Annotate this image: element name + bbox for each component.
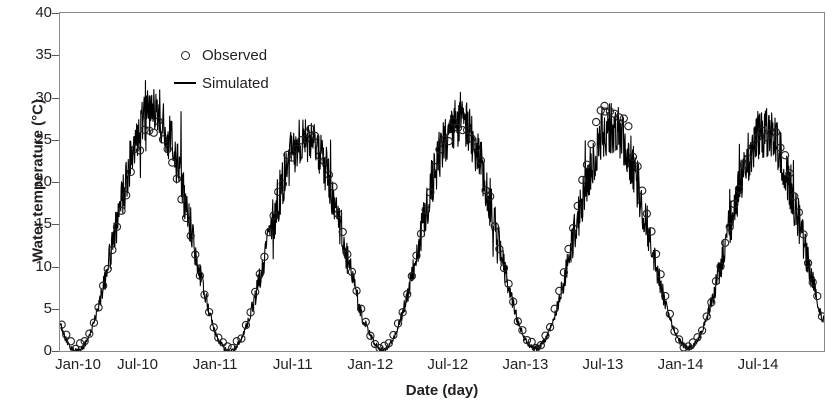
chart-legend: Observed Simulated: [170, 41, 340, 97]
x-axis-tick-label: Jan-14: [658, 356, 704, 373]
observed-point: [588, 141, 595, 148]
y-axis-tick-label: 15: [8, 215, 52, 232]
observed-point: [77, 340, 84, 347]
legend-label-simulated: Simulated: [202, 75, 269, 92]
y-axis-tick-mark: [52, 351, 59, 352]
y-axis-tick-labels: 0510152025303540: [0, 0, 52, 406]
y-axis-tick-label: 20: [8, 173, 52, 190]
x-axis-tick-label: Jan-11: [193, 356, 238, 373]
observed-point: [781, 152, 788, 159]
y-axis-tick-mark: [52, 140, 59, 141]
x-axis-tick-label: Jan-12: [347, 356, 393, 373]
plot-area: Observed Simulated: [59, 12, 825, 352]
observed-point: [348, 268, 355, 275]
y-axis-tick-label: 40: [8, 4, 52, 21]
y-axis-tick-mark: [52, 98, 59, 99]
x-axis-tick-label: Jan-10: [55, 356, 101, 373]
y-axis-tick-label: 25: [8, 131, 52, 148]
y-axis-tick-label: 30: [8, 89, 52, 106]
observed-point: [625, 123, 632, 130]
y-axis-tick-mark: [52, 309, 59, 310]
x-axis-title: Date (day): [59, 382, 825, 399]
y-axis-tick-mark: [52, 13, 59, 14]
y-axis-tick-label: 5: [8, 300, 52, 317]
observed-point: [666, 310, 673, 317]
x-axis-tick-label: Jul-13: [583, 356, 624, 373]
legend-item-simulated: Simulated: [170, 69, 340, 97]
x-axis-tick-label: Jul-10: [117, 356, 158, 373]
simulated-line: [60, 81, 824, 351]
x-axis-tick-label: Jan-13: [502, 356, 548, 373]
observed-point: [597, 107, 604, 114]
chart-figure: Water temperature (°C) 0510152025303540 …: [0, 0, 832, 406]
y-axis-tick-mark: [52, 55, 59, 56]
open-circle-icon: [170, 51, 200, 60]
observed-point: [150, 129, 157, 136]
x-axis-tick-label: Jul-12: [427, 356, 468, 373]
y-axis-tick-label: 0: [8, 342, 52, 359]
y-axis-tick-label: 10: [8, 258, 52, 275]
x-axis-tick-label: Jul-14: [738, 356, 779, 373]
legend-item-observed: Observed: [170, 41, 340, 69]
line-icon: [170, 82, 200, 84]
y-axis-tick-mark: [52, 182, 59, 183]
x-axis-tick-label: Jul-11: [273, 356, 313, 373]
y-axis-tick-mark: [52, 267, 59, 268]
y-axis-tick-label: 35: [8, 46, 52, 63]
observed-point: [814, 292, 821, 299]
observed-point: [593, 118, 600, 125]
legend-label-observed: Observed: [202, 47, 267, 64]
y-axis-tick-mark: [52, 224, 59, 225]
observed-point: [67, 338, 74, 345]
